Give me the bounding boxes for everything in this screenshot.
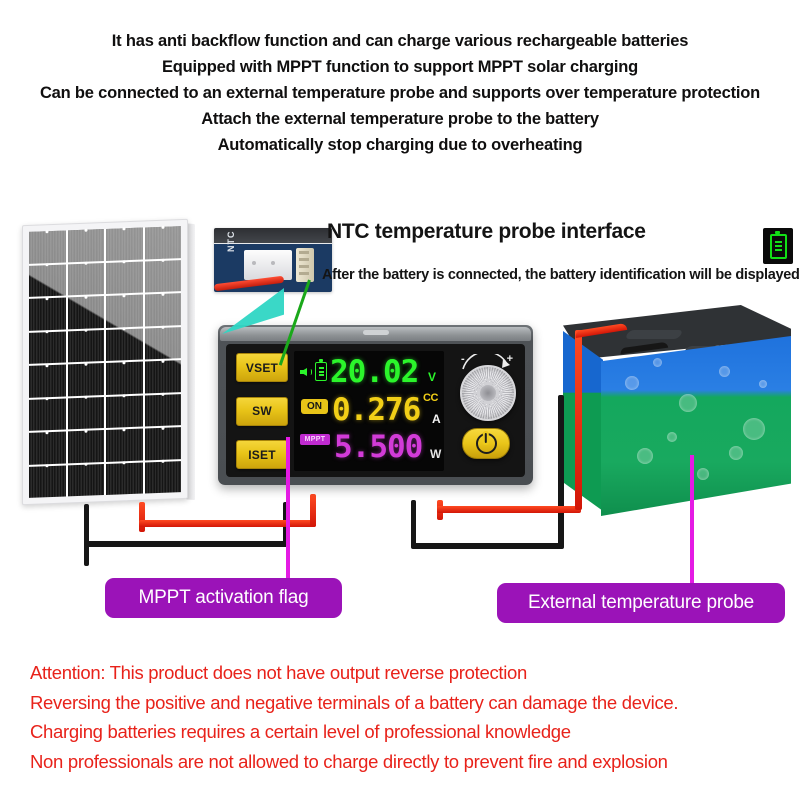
power-value: 5.500 bbox=[334, 428, 422, 466]
power-button[interactable] bbox=[462, 428, 510, 459]
battery-full-icon bbox=[770, 234, 787, 259]
wire-panel-positive-left bbox=[139, 502, 145, 532]
ntc-subtitle: After the battery is connected, the batt… bbox=[322, 267, 800, 283]
white-connector-housing bbox=[244, 250, 292, 280]
external-temperature-probe-callout: External temperature probe bbox=[497, 583, 785, 623]
battery-illustration bbox=[563, 305, 791, 525]
module-control-area: - + bbox=[451, 348, 521, 473]
voltage-unit: V bbox=[428, 370, 436, 384]
solar-panel bbox=[22, 219, 188, 505]
feature-text-block: It has anti backflow function and can ch… bbox=[0, 28, 800, 158]
iset-button[interactable]: ISET bbox=[236, 440, 288, 469]
battery-identification-indicator bbox=[763, 228, 793, 264]
knob-plus-label: + bbox=[507, 353, 513, 365]
power-unit: W bbox=[430, 447, 441, 461]
current-value: 0.276 bbox=[332, 391, 420, 429]
speaker-icon bbox=[300, 365, 314, 379]
warning-line-1: Attention: This product does not have ou… bbox=[30, 658, 790, 688]
module-front-panel: VSET SW ISET 20.02 V bbox=[226, 344, 525, 477]
battery-front-face bbox=[601, 336, 791, 516]
sw-button[interactable]: SW bbox=[236, 397, 288, 426]
current-unit: A bbox=[432, 412, 441, 426]
feature-line-1: It has anti backflow function and can ch… bbox=[0, 28, 800, 54]
voltage-value: 20.02 bbox=[330, 353, 418, 391]
lcd-display[interactable]: 20.02 V ON 0.276 CC A MPPT 5.500 W bbox=[294, 351, 444, 471]
wire-battery-positive-mid bbox=[437, 506, 581, 513]
rotary-encoder-knob[interactable] bbox=[460, 365, 516, 421]
feature-line-4: Attach the external temperature probe to… bbox=[0, 106, 800, 132]
lcd-current-row: ON 0.276 CC A bbox=[294, 391, 444, 429]
mppt-flag-badge: MPPT bbox=[300, 434, 330, 445]
feature-line-5: Automatically stop charging due to overh… bbox=[0, 132, 800, 158]
leader-line-mppt-flag bbox=[286, 437, 290, 585]
cc-mode-badge: CC bbox=[423, 392, 438, 404]
ntc-heading: NTC temperature probe interface bbox=[327, 220, 646, 244]
ntc-plug bbox=[296, 248, 314, 282]
output-on-badge: ON bbox=[301, 399, 328, 414]
wire-panel-negative-bottom bbox=[84, 541, 288, 547]
warning-line-3: Charging batteries requires a certain le… bbox=[30, 717, 790, 747]
power-icon bbox=[476, 433, 497, 454]
wire-battery-positive-up bbox=[575, 330, 582, 510]
mppt-activation-flag-callout: MPPT activation flag bbox=[105, 578, 342, 618]
wire-panel-negative-left bbox=[84, 504, 89, 566]
warning-line-2: Reversing the positive and negative term… bbox=[30, 688, 790, 718]
lcd-power-row: MPPT 5.500 W bbox=[294, 428, 444, 466]
wire-battery-negative-left bbox=[411, 500, 416, 548]
module-button-column: VSET SW ISET bbox=[236, 353, 288, 469]
feature-line-3: Can be connected to an external temperat… bbox=[0, 80, 800, 106]
battery-side-face bbox=[563, 331, 603, 511]
ntc-connector-photo: NTC bbox=[214, 228, 332, 292]
battery-cap-1 bbox=[625, 330, 684, 339]
wire-module-positive-in bbox=[310, 494, 316, 527]
infographic-page: It has anti backflow function and can ch… bbox=[0, 0, 800, 800]
battery-level-icon bbox=[315, 362, 327, 381]
module-top-notch bbox=[363, 330, 389, 335]
ntc-silkscreen-label: NTC bbox=[226, 231, 236, 253]
solar-cell-grid bbox=[29, 226, 181, 498]
knob-minus-label: - bbox=[461, 353, 465, 365]
leader-line-temp-probe bbox=[690, 455, 694, 583]
module-top-edge bbox=[220, 327, 531, 341]
lcd-voltage-row: 20.02 V bbox=[294, 353, 444, 391]
wire-battery-negative-up bbox=[558, 395, 564, 549]
dc-power-supply-module: VSET SW ISET 20.02 V bbox=[218, 325, 533, 485]
wire-battery-negative-bot bbox=[411, 543, 563, 549]
warning-text-block: Attention: This product does not have ou… bbox=[30, 658, 790, 776]
warning-line-4: Non professionals are not allowed to cha… bbox=[30, 747, 790, 777]
feature-line-2: Equipped with MPPT function to support M… bbox=[0, 54, 800, 80]
